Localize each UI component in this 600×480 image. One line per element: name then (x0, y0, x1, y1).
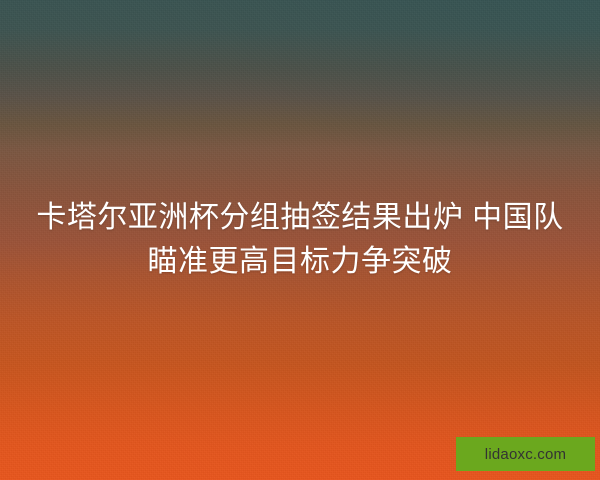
watermark-label: lidaoxc.com (485, 447, 566, 462)
poster-canvas: 卡塔尔亚洲杯分组抽签结果出炉 中国队 瞄准更高目标力争突破 lidaoxc.co… (0, 0, 600, 480)
page-title: 卡塔尔亚洲杯分组抽签结果出炉 中国队 瞄准更高目标力争突破 (0, 196, 600, 284)
watermark-badge[interactable]: lidaoxc.com (456, 437, 595, 471)
